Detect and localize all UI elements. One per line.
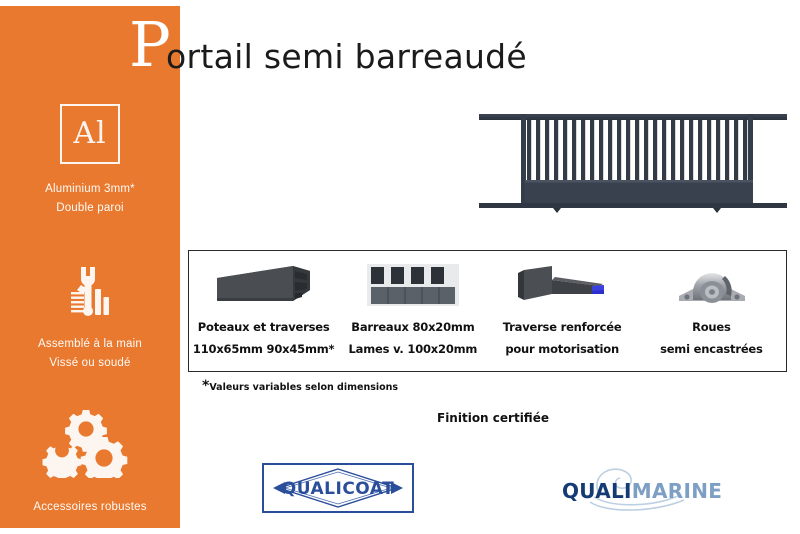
wrench-screws-icon [0, 261, 180, 323]
product-sheet-page: Al Aluminium 3mm* Double paroi [0, 0, 800, 534]
certification-heading: Finition certifiée [437, 411, 549, 425]
page-title-initial: P [129, 14, 171, 76]
sidebar-item-assembly: Assemblé à la main Vissé ou soudé [0, 261, 180, 373]
qualicoat-logo: QUALICOAT [262, 463, 414, 513]
feature-item-barreaux-line1: Barreaux 80x20mm [351, 320, 474, 334]
sidebar-item-assembly-line1: Assemblé à la main [0, 335, 180, 354]
qualicoat-logo-text: QUALICOAT [282, 479, 394, 499]
feature-item-barreaux-line2: Lames v. 100x20mm [349, 342, 478, 356]
sidebar-item-assembly-line2: Vissé ou soudé [0, 354, 180, 373]
qualimarine-logo-text: QUALIMARINE [562, 479, 722, 503]
features-panel: Poteaux et traverses 110x65mm 90x45mm* [188, 250, 787, 372]
feature-item-barreaux: Barreaux 80x20mm Lames v. 100x20mm [338, 251, 487, 371]
profile-post-beam-image [209, 259, 319, 311]
feature-item-poteaux: Poteaux et traverses 110x65mm 90x45mm* [189, 251, 338, 371]
reinforced-beam-image [508, 259, 616, 311]
feature-item-traverse-line1: Traverse renforcée [503, 320, 622, 334]
qualimarine-text-quali: QUALI [562, 479, 632, 503]
feature-item-roues-line1: Roues [692, 320, 731, 334]
feature-item-roues-line2: semi encastrées [660, 342, 763, 356]
sidebar: Al Aluminium 3mm* Double paroi [0, 6, 180, 528]
gate-illustration [475, 104, 793, 216]
sidebar-item-aluminium-line1: Aluminium 3mm* [0, 180, 180, 199]
qualimarine-logo: QUALIMARINE [560, 462, 720, 514]
sidebar-item-accessories-line1: Accessoires robustes [0, 498, 180, 517]
footnote-text: Valeurs variables selon dimensions [209, 382, 398, 393]
feature-item-roues: Roues semi encastrées [637, 251, 786, 371]
feature-item-poteaux-line1: Poteaux et traverses [198, 320, 330, 334]
bars-slats-image [365, 259, 461, 311]
feature-item-traverse: Traverse renforcée pour motorisation [488, 251, 637, 371]
footnote: *Valeurs variables selon dimensions [202, 382, 398, 393]
feature-item-poteaux-line2: 110x65mm 90x45mm* [193, 342, 334, 356]
aluminium-symbol-label: Al [73, 119, 106, 149]
gears-icon [0, 408, 180, 478]
page-title: ortail semi barreaudé [166, 40, 527, 73]
wheel-bearing-image [665, 259, 757, 311]
aluminium-square-icon: Al [60, 104, 120, 164]
feature-item-traverse-line2: pour motorisation [505, 342, 619, 356]
sidebar-item-aluminium-line2: Double paroi [0, 199, 180, 218]
sidebar-item-aluminium: Al Aluminium 3mm* Double paroi [0, 104, 180, 218]
sidebar-item-accessories: Accessoires robustes [0, 408, 180, 517]
qualimarine-text-marine: MARINE [632, 479, 722, 503]
